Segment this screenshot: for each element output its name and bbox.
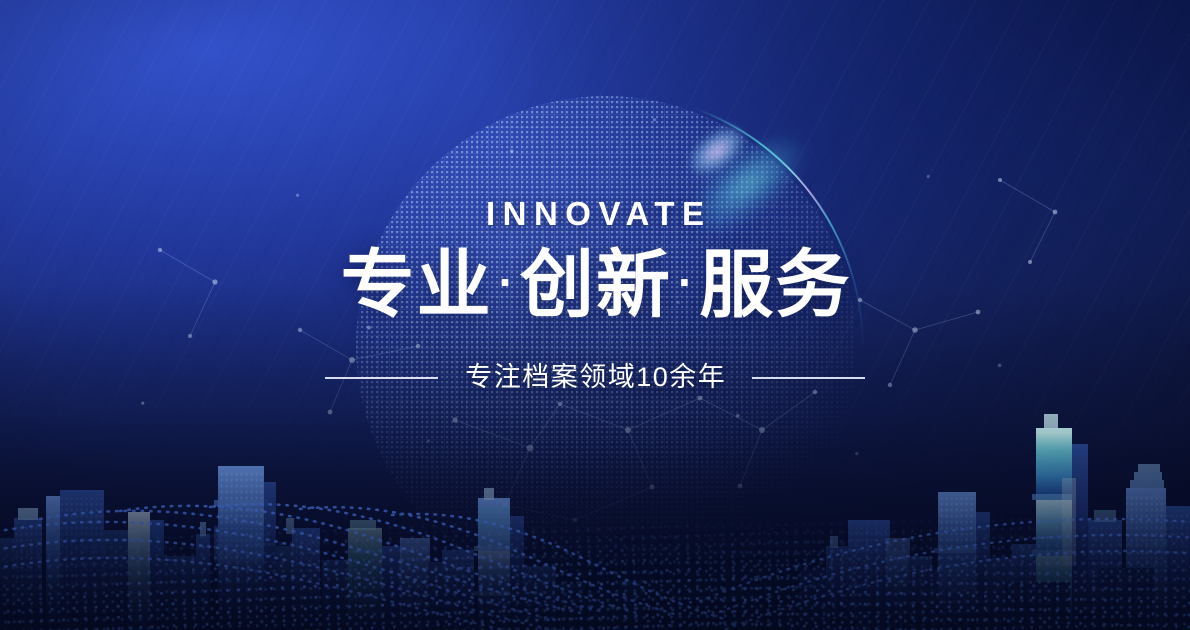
page-title: 专业·创新·服务 [0, 246, 1190, 324]
headline-separator-2: · [678, 256, 693, 308]
hero-banner: INNOVATE 专业·创新·服务 专注档案领域10余年 [0, 0, 1190, 630]
headline-word-2: 创新 [520, 243, 672, 326]
divider-left-rule [325, 377, 438, 379]
subtitle-text: 专注档案领域10余年 [464, 364, 727, 391]
subtitle-row: 专注档案领域10余年 [0, 364, 1190, 391]
headline-separator-1: · [499, 256, 514, 308]
headline-word-3: 服务 [699, 243, 851, 326]
headline-word-1: 专业 [341, 243, 493, 326]
banner-content: INNOVATE 专业·创新·服务 专注档案领域10余年 [0, 0, 1190, 630]
divider-right-rule [752, 377, 865, 379]
eyebrow-text: INNOVATE [0, 197, 1190, 230]
